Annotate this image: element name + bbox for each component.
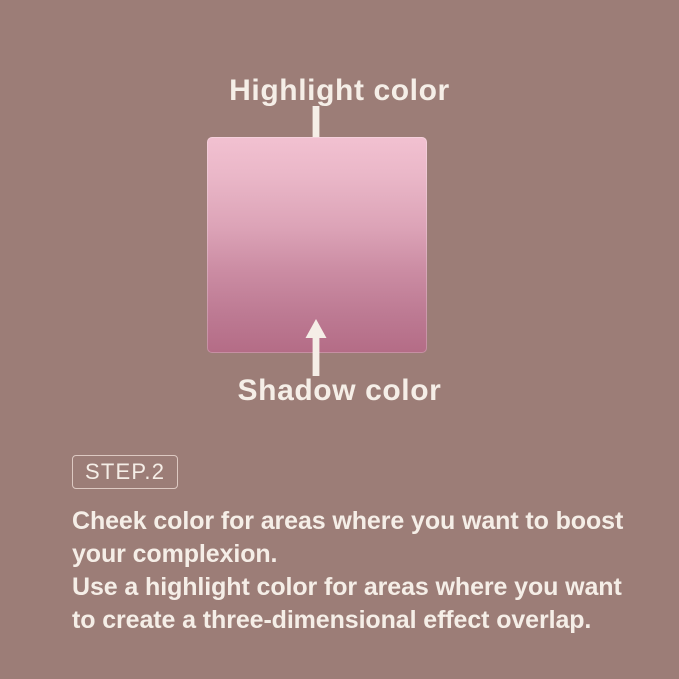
shadow-color-label: Shadow color xyxy=(0,374,679,407)
product-instruction-graphic: Highlight color Shadow color STEP.2 Chee… xyxy=(0,0,679,679)
step-description-block: STEP.2 Cheek color for areas where you w… xyxy=(72,455,632,637)
step-badge: STEP.2 xyxy=(72,455,178,489)
highlight-color-label: Highlight color xyxy=(0,74,679,107)
step-text-line: to create a three-dimensional effect ove… xyxy=(72,604,632,637)
arrow-up-icon xyxy=(303,318,329,376)
step-description-text: Cheek color for areas where you want to … xyxy=(72,505,632,637)
step-text-line: your complexion. xyxy=(72,538,632,571)
color-swatch-demo: Highlight color Shadow color xyxy=(0,0,679,430)
step-text-line: Cheek color for areas where you want to … xyxy=(72,505,632,538)
step-text-line: Use a highlight color for areas where yo… xyxy=(72,571,632,604)
